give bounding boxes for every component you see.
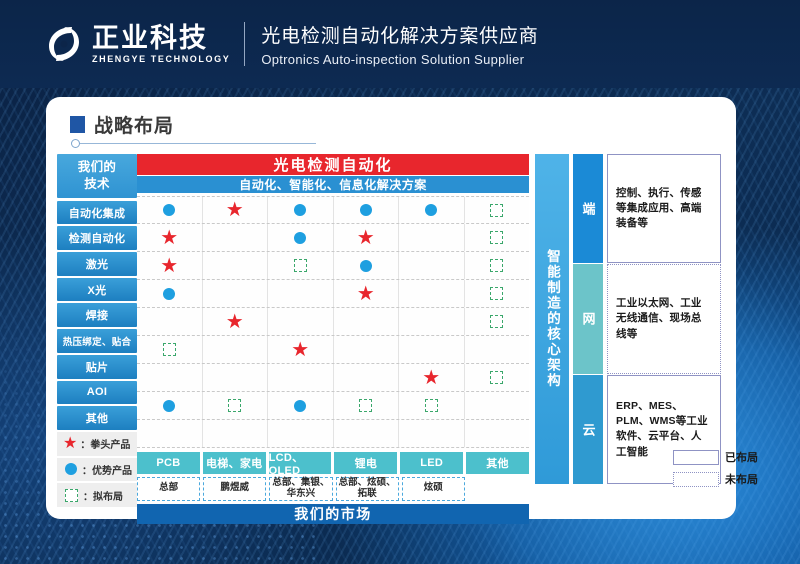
matrix-cell-3-2[interactable]: [268, 280, 334, 307]
matrix-cell-0-2[interactable]: [268, 197, 334, 223]
matrix-cell-2-5[interactable]: [465, 252, 530, 279]
header-tagline: 光电检测自动化解决方案供应商 Optronics Auto-inspection…: [261, 21, 538, 67]
matrix-row-7: [137, 392, 529, 420]
star-icon: ★: [357, 228, 375, 248]
tech-row-label-4[interactable]: 焊接: [57, 303, 137, 327]
star-icon: ★: [63, 436, 77, 452]
matrix-cell-1-5[interactable]: [465, 224, 530, 251]
matrix-cell-1-2[interactable]: [268, 224, 334, 251]
matrix-cell-3-4[interactable]: [399, 280, 465, 307]
circle-icon: [163, 204, 175, 216]
matrix-cell-5-0[interactable]: [137, 336, 203, 363]
matrix-cell-2-4[interactable]: [399, 252, 465, 279]
matrix-row-3: ★: [137, 280, 529, 308]
circle-icon: [360, 204, 372, 216]
matrix-cell-1-3[interactable]: ★: [334, 224, 400, 251]
dashed-box-icon: [228, 399, 241, 412]
market-cell-0[interactable]: PCB: [137, 452, 200, 474]
architecture-desc-1: 工业以太网、工业无线通信、现场总线等: [607, 264, 721, 373]
matrix-cell-2-0[interactable]: ★: [137, 252, 203, 279]
dashed-box-icon: [65, 489, 78, 502]
tech-row-label-6[interactable]: 贴片: [57, 355, 137, 379]
matrix-cell-2-3[interactable]: [334, 252, 400, 279]
matrix-row-2: ★: [137, 252, 529, 280]
tech-row-label-0[interactable]: 自动化集成: [57, 201, 137, 225]
content-card: 战略布局 我们的 技术 自动化集成 检测自动化 激光 X光 焊接 热压绑定、贴合…: [46, 97, 736, 519]
title-rule: [78, 143, 316, 144]
matrix-cell-3-3[interactable]: ★: [334, 280, 400, 307]
market-cell-5[interactable]: 其他: [466, 452, 529, 474]
matrix-cell-5-2[interactable]: ★: [268, 336, 334, 363]
matrix-cells: ★★★★★★★★: [137, 196, 529, 448]
architecture-desc-0: 控制、执行、传感等集成应用、高端装备等: [607, 154, 721, 263]
dashed-box-icon: [425, 399, 438, 412]
key-row-0: 已布局: [673, 449, 793, 465]
matrix-cell-7-3[interactable]: [334, 392, 400, 419]
our-market-banner: 我们的市场: [137, 504, 529, 524]
architecture-tags: 端网云: [573, 154, 603, 484]
star-icon: ★: [160, 256, 178, 276]
legend-item-circle: ：优势产品: [57, 458, 137, 482]
matrix-cell-3-1[interactable]: [203, 280, 269, 307]
deployment-key: 已布局未布局: [673, 449, 793, 487]
strategy-matrix: 我们的 技术 自动化集成 检测自动化 激光 X光 焊接 热压绑定、贴合 贴片 A…: [57, 154, 529, 509]
circle-icon: [294, 204, 306, 216]
dashed-box-icon: [163, 343, 176, 356]
architecture-layers: 端网云 控制、执行、传感等集成应用、高端装备等工业以太网、工业无线通信、现场总线…: [573, 154, 721, 484]
matrix-cell-3-5[interactable]: [465, 280, 530, 307]
matrix-cell-4-2[interactable]: [268, 308, 334, 335]
star-icon: ★: [357, 284, 375, 304]
circle-icon: [294, 232, 306, 244]
star-icon: ★: [226, 312, 244, 332]
brand-logo-text: 正业科技 ZHENGYE TECHNOLOGY: [92, 24, 230, 64]
star-icon: ★: [226, 200, 244, 220]
circle-icon: [360, 260, 372, 272]
matrix-cell-1-1[interactable]: [203, 224, 269, 251]
matrix-cell-0-0[interactable]: [137, 197, 203, 223]
matrix-cell-3-0[interactable]: [137, 280, 203, 307]
matrix-banner-sub: 自动化、智能化、信息化解决方案: [137, 176, 529, 193]
matrix-cell-0-1[interactable]: ★: [203, 197, 269, 223]
market-header-row: PCB电梯、家电LCD、OLED锂电LED其他: [137, 452, 529, 474]
matrix-cell-0-5[interactable]: [465, 197, 530, 223]
matrix-cell-8-4[interactable]: [399, 420, 465, 447]
circle-icon: [163, 288, 175, 300]
matrix-cell-1-0[interactable]: ★: [137, 224, 203, 251]
legend-label-1: ：优势产品: [82, 462, 132, 477]
circle-icon: [163, 400, 175, 412]
matrix-cell-6-5[interactable]: [465, 364, 530, 391]
customer-cell-2[interactable]: 总部、集银、华东兴: [269, 477, 332, 501]
matrix-cell-4-5[interactable]: [465, 308, 530, 335]
matrix-cell-5-4[interactable]: [399, 336, 465, 363]
matrix-cell-7-2[interactable]: [268, 392, 334, 419]
corner-label-line2: 技术: [84, 176, 110, 193]
legend-label-2: ：拟布局: [83, 488, 123, 503]
circle-icon: [425, 204, 437, 216]
brand-logo: 正业科技 ZHENGYE TECHNOLOGY: [42, 22, 230, 66]
dashed-box-icon: [294, 259, 307, 272]
tech-row-label-8[interactable]: 其他: [57, 406, 137, 430]
matrix-cell-2-1[interactable]: [203, 252, 269, 279]
dotted-box-icon: [673, 472, 719, 487]
matrix-cell-0-4[interactable]: [399, 197, 465, 223]
legend-label-0: ：拳头产品: [80, 436, 130, 451]
matrix-cell-2-2[interactable]: [268, 252, 334, 279]
customer-cell-5: [468, 477, 529, 501]
matrix-cell-5-1[interactable]: [203, 336, 269, 363]
architecture-tag-1[interactable]: 网: [573, 264, 603, 373]
market-cell-3[interactable]: 锂电: [334, 452, 397, 474]
header-divider: [244, 22, 245, 66]
star-icon: ★: [422, 368, 440, 388]
matrix-cell-7-1[interactable]: [203, 392, 269, 419]
matrix-cell-4-0[interactable]: [137, 308, 203, 335]
legend-item-box: ：拟布局: [57, 483, 137, 507]
tagline-en: Optronics Auto-inspection Solution Suppl…: [261, 52, 538, 67]
architecture-descriptions: 控制、执行、传感等集成应用、高端装备等工业以太网、工业无线通信、现场总线等ERP…: [607, 154, 721, 484]
market-cell-1[interactable]: 电梯、家电: [203, 452, 266, 474]
matrix-cell-1-4[interactable]: [399, 224, 465, 251]
circle-icon: [65, 463, 77, 475]
page-title: 战略布局: [94, 111, 174, 138]
title-bullet-icon: [70, 116, 85, 133]
matrix-cell-8-5[interactable]: [465, 420, 530, 447]
tech-row-label-5[interactable]: 热压绑定、贴合: [57, 329, 137, 353]
matrix-cell-5-5[interactable]: [465, 336, 530, 363]
customer-row: 总部鹏煜威总部、集银、华东兴总部、炫硕、拓联炫硕: [137, 477, 529, 501]
brand-name-en: ZHENGYE TECHNOLOGY: [92, 54, 230, 64]
legend-item-star: ★ ：拳头产品: [57, 432, 137, 456]
matrix-cell-0-3[interactable]: [334, 197, 400, 223]
key-label-0: 已布局: [725, 449, 758, 465]
matrix-cell-8-1[interactable]: [203, 420, 269, 447]
market-cell-2[interactable]: LCD、OLED: [269, 452, 332, 474]
matrix-cell-6-0[interactable]: [137, 364, 203, 391]
matrix-cell-6-4[interactable]: ★: [399, 364, 465, 391]
customer-cell-4[interactable]: 炫硕: [402, 477, 465, 501]
page-header: 正业科技 ZHENGYE TECHNOLOGY 光电检测自动化解决方案供应商 O…: [0, 0, 800, 88]
dashed-box-icon: [490, 371, 503, 384]
matrix-cell-4-4[interactable]: [399, 308, 465, 335]
dashed-box-icon: [490, 287, 503, 300]
matrix-row-6: ★: [137, 364, 529, 392]
dashed-box-icon: [359, 399, 372, 412]
dashed-box-icon: [490, 231, 503, 244]
customer-cell-1[interactable]: 鹏煜威: [203, 477, 266, 501]
star-icon: ★: [291, 340, 309, 360]
matrix-corner-header: 我们的 技术: [57, 154, 137, 198]
tech-row-label-7[interactable]: AOI: [57, 381, 137, 405]
dashed-box-icon: [490, 315, 503, 328]
dashed-box-icon: [490, 259, 503, 272]
matrix-banner-main: 光电检测自动化: [137, 154, 529, 175]
matrix-cell-6-3[interactable]: [334, 364, 400, 391]
star-icon: ★: [160, 228, 178, 248]
tech-row-label-2[interactable]: 激光: [57, 252, 137, 276]
architecture-panel: 智能制造的核心架构 端网云 控制、执行、传感等集成应用、高端装备等工业以太网、工…: [535, 154, 721, 484]
architecture-spine-label: 智能制造的核心架构: [535, 154, 569, 484]
customer-cell-0[interactable]: 总部: [137, 477, 200, 501]
tech-row-label-3[interactable]: X光: [57, 278, 137, 302]
matrix-cell-6-2[interactable]: [268, 364, 334, 391]
key-row-1: 未布局: [673, 471, 793, 487]
matrix-cell-7-0[interactable]: [137, 392, 203, 419]
dashed-box-icon: [490, 204, 503, 217]
matrix-grid-column: 光电检测自动化 自动化、智能化、信息化解决方案 ★★★★★★★★ PCB电梯、家…: [137, 154, 529, 509]
section-title-row: 战略布局: [70, 111, 174, 138]
tech-row-label-1[interactable]: 检测自动化: [57, 226, 137, 250]
matrix-cell-5-3[interactable]: [334, 336, 400, 363]
customer-cell-3[interactable]: 总部、炫硕、拓联: [336, 477, 399, 501]
circle-icon: [294, 400, 306, 412]
brand-name-cn: 正业科技: [92, 24, 230, 52]
matrix-row-0: ★: [137, 196, 529, 224]
matrix-cell-8-2[interactable]: [268, 420, 334, 447]
matrix-cell-7-4[interactable]: [399, 392, 465, 419]
corner-label-line1: 我们的: [78, 159, 116, 176]
zhengye-logo-icon: [42, 22, 86, 66]
architecture-tag-0[interactable]: 端: [573, 154, 603, 263]
market-cell-4[interactable]: LED: [400, 452, 463, 474]
matrix-cell-4-3[interactable]: [334, 308, 400, 335]
matrix-cell-8-0[interactable]: [137, 420, 203, 447]
architecture-tag-2[interactable]: 云: [573, 375, 603, 484]
matrix-cell-8-3[interactable]: [334, 420, 400, 447]
key-label-1: 未布局: [725, 471, 758, 487]
matrix-row-5: ★: [137, 336, 529, 364]
matrix-cell-4-1[interactable]: ★: [203, 308, 269, 335]
matrix-row-1: ★★: [137, 224, 529, 252]
tagline-cn: 光电检测自动化解决方案供应商: [261, 21, 538, 48]
matrix-cell-6-1[interactable]: [203, 364, 269, 391]
title-dot-icon: [71, 139, 80, 148]
matrix-cell-7-5[interactable]: [465, 392, 530, 419]
matrix-row-4: ★: [137, 308, 529, 336]
matrix-row-8: [137, 420, 529, 448]
solid-box-icon: [673, 450, 719, 465]
matrix-row-headers: 我们的 技术 自动化集成 检测自动化 激光 X光 焊接 热压绑定、贴合 贴片 A…: [57, 154, 137, 509]
